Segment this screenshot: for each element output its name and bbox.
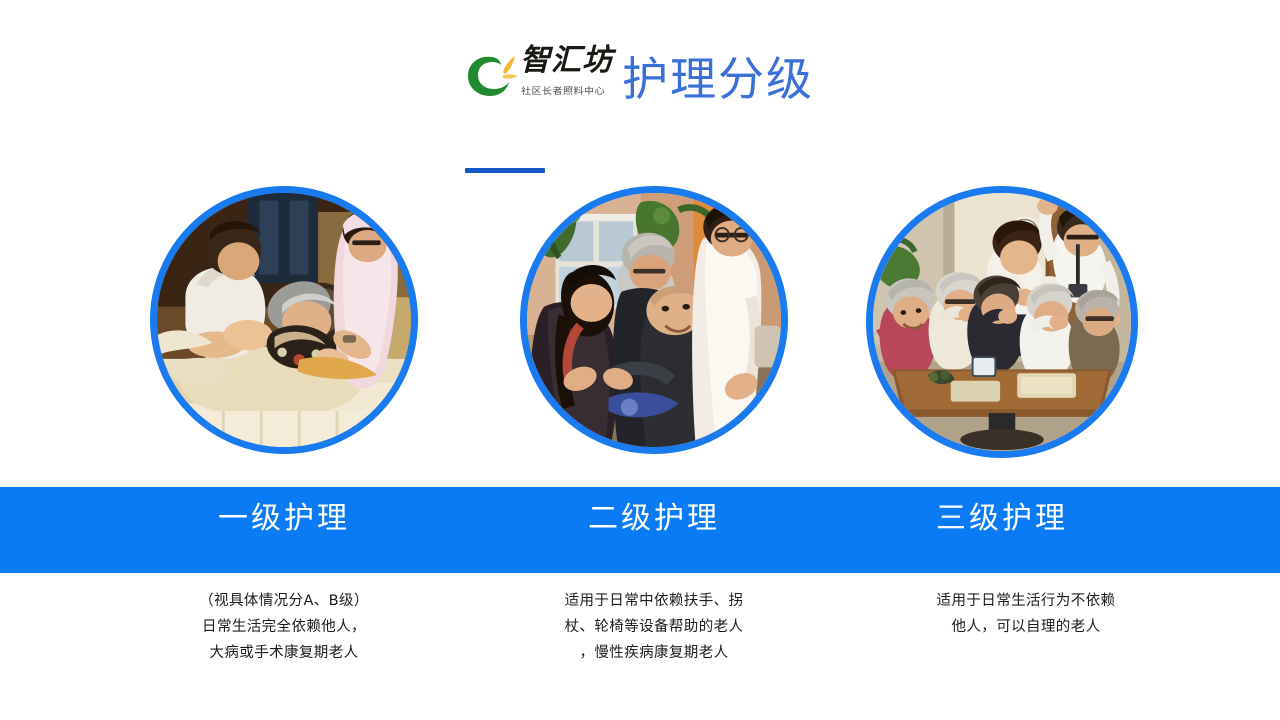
photo-wheelchair-outdoor-image: [527, 193, 781, 447]
brand-text: 智汇坊 社区长者照料中心: [520, 44, 628, 106]
caption-line: 日常生活完全依赖他人，: [124, 614, 444, 640]
level-caption-1: （视具体情况分A、B级） 日常生活完全依赖他人， 大病或手术康复期老人: [124, 588, 444, 666]
level-title-1: 一级护理: [150, 501, 418, 537]
level-caption-3: 适用于日常生活行为不依赖 他人，可以自理的老人: [880, 588, 1172, 640]
photo-bedside-care: [150, 186, 418, 454]
level-caption-2: 适用于日常中依赖扶手、拐 杖、轮椅等设备帮助的老人 ，慢性疾病康复期老人: [508, 588, 800, 666]
caption-line: 适用于日常生活行为不依赖: [880, 588, 1172, 614]
photo-row: [0, 186, 1280, 464]
caption-line: 他人，可以自理的老人: [880, 614, 1172, 640]
header-inner: 智汇坊 社区长者照料中心 护理分级: [462, 44, 814, 106]
title-underline-accent: [465, 168, 545, 173]
photo-wheelchair-outdoor: [520, 186, 788, 454]
caption-line: 适用于日常中依赖扶手、拐: [508, 588, 800, 614]
caption-row: （视具体情况分A、B级） 日常生活完全依赖他人， 大病或手术康复期老人 适用于日…: [0, 588, 1280, 688]
photo-group-activity: [866, 186, 1138, 458]
photo-group-activity-image: [873, 193, 1131, 451]
caption-line: 杖、轮椅等设备帮助的老人: [508, 614, 800, 640]
page-header: 智汇坊 社区长者照料中心 护理分级: [0, 44, 1280, 144]
brand-subtitle: 社区长者照料中心: [521, 83, 605, 97]
level-title-2: 二级护理: [520, 501, 788, 537]
caption-line: ，慢性疾病康复期老人: [508, 640, 800, 666]
caption-line: 大病或手术康复期老人: [124, 640, 444, 666]
brand-lockup: 智汇坊 社区长者照料中心: [462, 44, 628, 106]
caption-line: （视具体情况分A、B级）: [124, 588, 444, 614]
level-title-band: 一级护理 二级护理 三级护理: [0, 487, 1280, 573]
level-title-band-inner: 一级护理 二级护理 三级护理: [0, 487, 1280, 573]
page-title: 护理分级: [622, 56, 814, 102]
photo-bedside-care-image: [157, 193, 411, 447]
zhihuifang-leaf-logo-icon: [462, 47, 518, 103]
level-title-3: 三级护理: [866, 501, 1138, 537]
brand-name: 智汇坊: [520, 46, 613, 76]
